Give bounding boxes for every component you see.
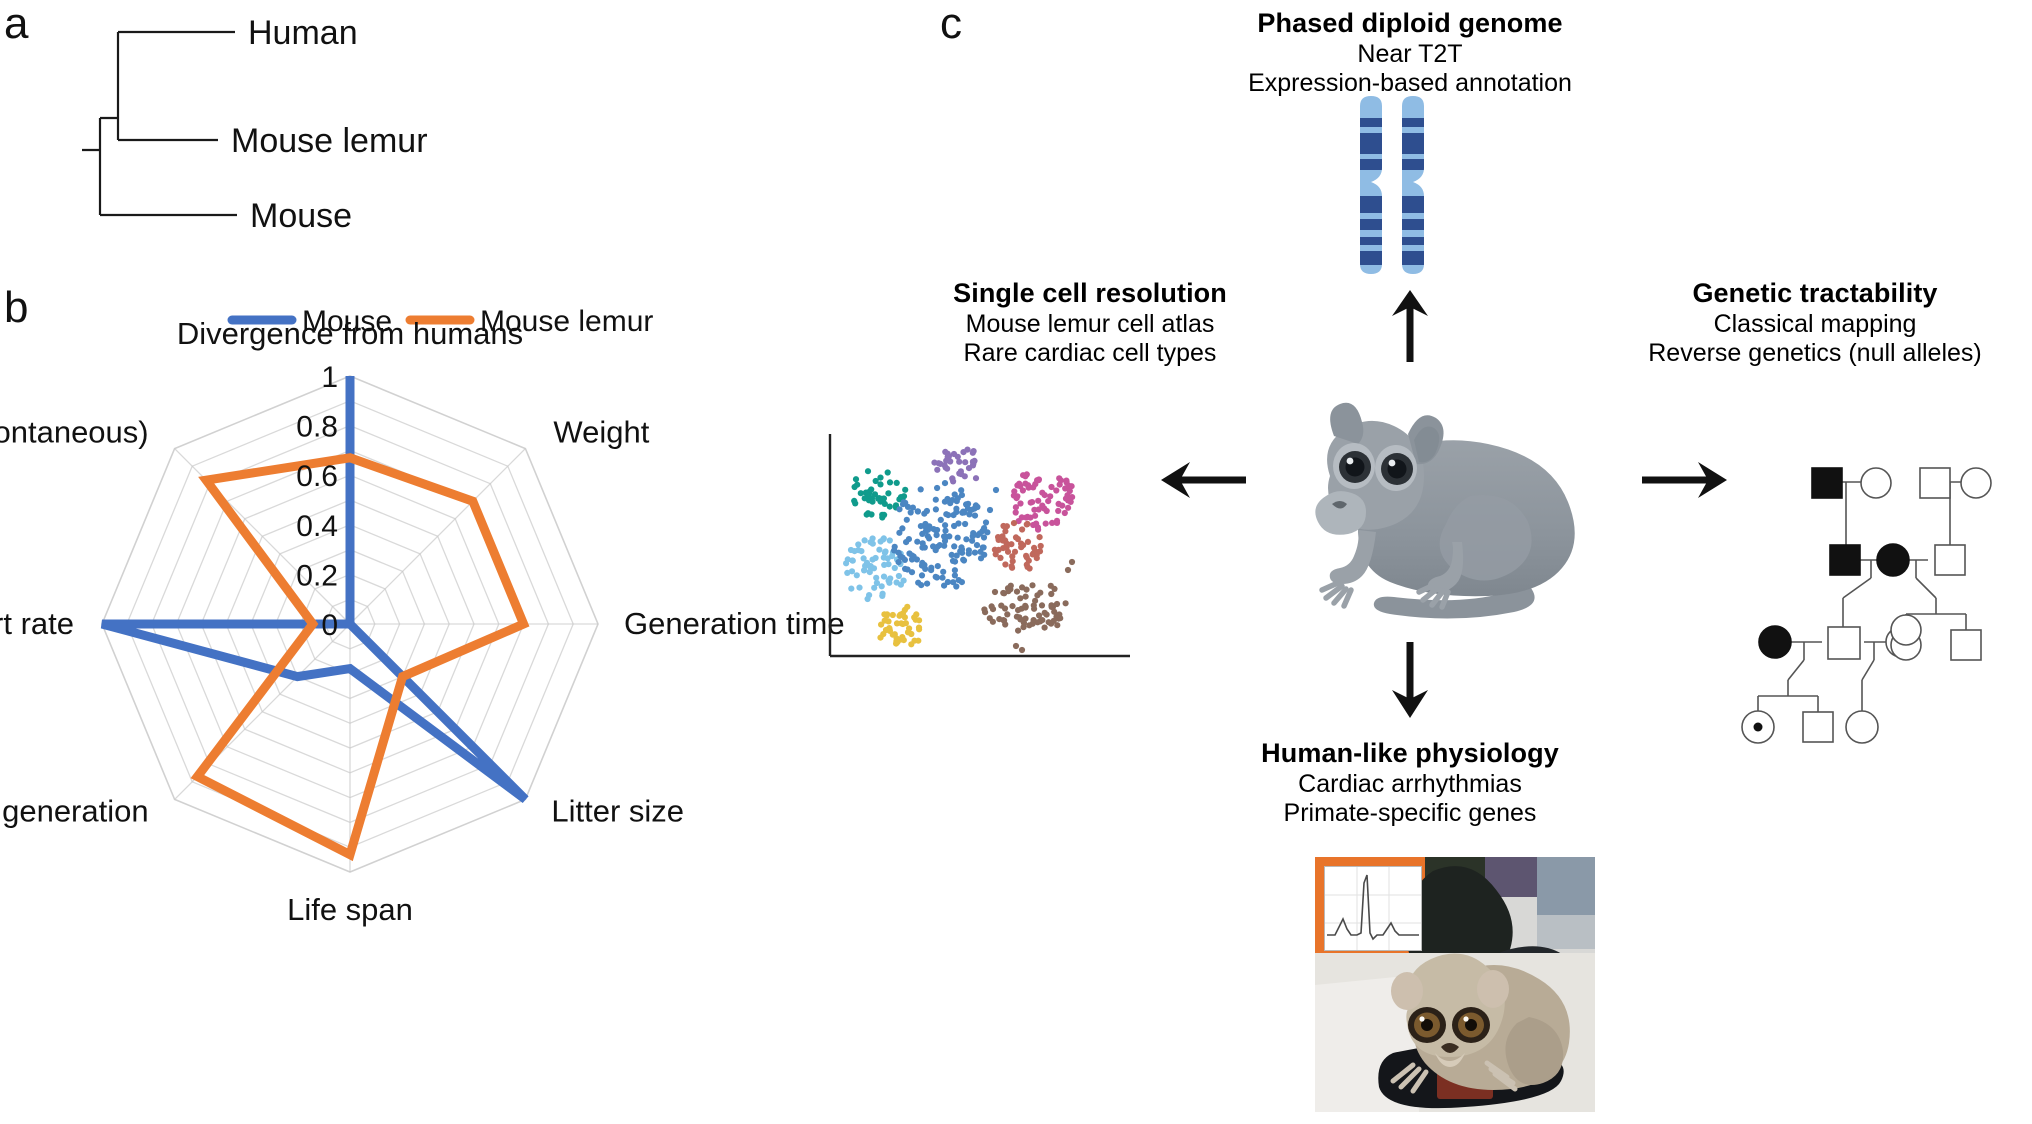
umap-point	[1069, 494, 1075, 500]
pedigree-affected-male	[1830, 545, 1860, 575]
bottom-title: Human-like physiology	[1070, 738, 1750, 770]
pedigree-female	[1846, 711, 1878, 743]
umap-point	[1028, 500, 1034, 506]
umap-point	[1005, 588, 1011, 594]
pedigree-male	[1935, 545, 1965, 575]
umap-point	[1033, 521, 1039, 527]
umap-point	[990, 619, 996, 625]
umap-point	[1017, 595, 1023, 601]
umap-point	[981, 525, 987, 531]
umap-point	[1063, 600, 1069, 606]
umap-point	[1037, 534, 1043, 540]
umap-point	[887, 479, 893, 485]
umap-point	[873, 555, 879, 561]
umap-point	[926, 523, 932, 529]
panel-c-letter: c	[940, 2, 962, 46]
umap-point	[1024, 564, 1030, 570]
umap-point	[959, 579, 965, 585]
top-title: Phased diploid genome	[1090, 8, 1730, 40]
radar-axis-label-weight: Weight	[553, 415, 649, 450]
umap-point	[862, 537, 868, 543]
radar-tick-label: 0.8	[296, 411, 338, 444]
umap-point	[911, 614, 917, 620]
umap-point	[962, 459, 968, 465]
umap-point	[1023, 604, 1029, 610]
umap-point	[920, 540, 926, 546]
umap-point	[1012, 549, 1018, 555]
umap-point	[1031, 602, 1037, 608]
umap-point	[1002, 621, 1008, 627]
pedigree-affected-male	[1812, 468, 1842, 498]
left-line-1: Mouse lemur cell atlas	[810, 310, 1370, 340]
umap-point	[916, 625, 922, 631]
umap-point	[902, 487, 908, 493]
radar-axis-label-life-span: Life span	[287, 892, 413, 927]
umap-point	[854, 572, 860, 578]
umap-point	[889, 553, 895, 559]
umap-point	[1039, 602, 1045, 608]
umap-point	[1011, 493, 1017, 499]
radar-axis-label-cost-per-generation: Cost per generation	[0, 793, 149, 828]
umap-point	[950, 512, 956, 518]
pedigree-carrier-dot	[1754, 723, 1763, 732]
umap-point	[1014, 589, 1020, 595]
umap-point	[936, 460, 942, 466]
umap-point	[949, 552, 955, 558]
right-text-block: Genetic tractability Classical mapping R…	[1580, 278, 2032, 369]
umap-point	[899, 634, 905, 640]
umap-point	[972, 550, 978, 556]
umap-point	[1038, 543, 1044, 549]
umap-point	[877, 481, 883, 487]
umap-point	[1062, 510, 1068, 516]
umap-point	[942, 480, 948, 486]
umap-point	[987, 507, 993, 513]
umap-point	[933, 497, 939, 503]
umap-point	[868, 511, 874, 517]
top-line-2: Expression-based annotation	[1090, 69, 1730, 99]
umap-point	[1013, 643, 1019, 649]
umap-point	[992, 589, 998, 595]
umap-point	[1016, 481, 1022, 487]
umap-point	[861, 555, 867, 561]
arrow-down-icon	[1380, 640, 1440, 720]
umap-point	[1013, 509, 1019, 515]
umap-point	[970, 450, 976, 456]
umap-point	[1056, 611, 1062, 617]
umap-point	[1009, 565, 1015, 571]
umap-point	[982, 609, 988, 615]
umap-point	[955, 520, 961, 526]
umap-point	[951, 543, 957, 549]
umap-point	[919, 563, 925, 569]
radar-tick-label: 0.6	[296, 460, 338, 493]
umap-point	[1004, 523, 1010, 529]
umap-point	[856, 585, 862, 591]
umap-point	[966, 547, 972, 553]
umap-point	[852, 500, 858, 506]
umap-point	[862, 495, 868, 501]
umap-point	[965, 501, 971, 507]
umap-point	[1022, 616, 1028, 622]
radar-axis-label-cvd-spontaneous: CVD (spontaneous)	[0, 415, 149, 450]
pedigree-affected-female	[1877, 544, 1909, 576]
umap-point	[1059, 503, 1065, 509]
umap-point	[955, 535, 961, 541]
tree-tip-label-mouse: Mouse	[250, 197, 352, 235]
radar-plot: 00.20.40.60.81 Divergence from humansWei…	[0, 324, 800, 1124]
umap-point	[1065, 567, 1071, 573]
umap-point	[914, 556, 920, 562]
umap-point	[1046, 619, 1052, 625]
panel-b-radar-chart: b Mouse Mouse lemur 00.20.40.60.81 Diver…	[0, 300, 800, 1124]
arrow-left-icon	[1158, 452, 1248, 508]
umap-point	[886, 580, 892, 586]
umap-point	[919, 572, 925, 578]
arrow-up-icon	[1380, 288, 1440, 364]
radar-tick-labels: 00.20.40.60.81	[296, 361, 338, 642]
phylogenetic-tree-svg: Human Mouse lemur Mouse	[0, 0, 640, 280]
umap-point	[881, 512, 887, 518]
umap-point	[1022, 473, 1028, 479]
umap-point	[894, 480, 900, 486]
umap-point	[942, 522, 948, 528]
umap-point	[1019, 526, 1025, 532]
umap-point	[1069, 483, 1075, 489]
umap-point	[887, 537, 893, 543]
umap-point	[918, 582, 924, 588]
umap-point	[1054, 601, 1060, 607]
umap-point	[876, 547, 882, 553]
umap-point	[945, 579, 951, 585]
umap-point	[959, 510, 965, 516]
umap-point	[1019, 647, 1025, 653]
pedigree-chart-icon	[1670, 468, 1982, 768]
pedigree-male	[1803, 712, 1833, 742]
chromosome-pair-icon	[1340, 96, 1480, 276]
umap-point	[894, 579, 900, 585]
umap-point	[990, 606, 996, 612]
umap-point	[1023, 553, 1029, 559]
umap-point	[896, 573, 902, 579]
umap-point	[896, 506, 902, 512]
pedigree-male	[1920, 468, 1950, 498]
umap-point	[973, 475, 979, 481]
umap-point	[940, 569, 946, 575]
umap-point	[900, 555, 906, 561]
umap-point	[853, 476, 859, 482]
radar-axis-label-generation-time: Generation time	[624, 606, 845, 641]
photo-lemur-ear-right	[1477, 970, 1509, 1008]
umap-scatter-icon	[820, 428, 1140, 668]
umap-point	[890, 612, 896, 618]
umap-point	[942, 538, 948, 544]
umap-point	[882, 618, 888, 624]
pedigree-female	[1861, 468, 1891, 498]
panel-a-phylogenetic-tree: a Human Mouse lemur Mouse	[0, 0, 640, 280]
umap-point	[1002, 561, 1008, 567]
umap-point	[952, 572, 958, 578]
umap-point	[905, 504, 911, 510]
umap-point	[1048, 602, 1054, 608]
right-line-1: Classical mapping	[1580, 310, 2032, 340]
umap-point	[969, 538, 975, 544]
umap-point	[934, 467, 940, 473]
umap-point	[892, 565, 898, 571]
umap-point	[1054, 520, 1060, 526]
umap-point	[1019, 514, 1025, 520]
tree-tip-label-mouse-lemur: Mouse lemur	[231, 122, 428, 160]
top-line-1: Near T2T	[1090, 40, 1730, 70]
umap-point	[1042, 610, 1048, 616]
umap-point	[1031, 507, 1037, 513]
umap-point	[1029, 582, 1035, 588]
radar-axis-label-litter-size: Litter size	[551, 793, 684, 828]
pedigree-female	[1961, 468, 1991, 498]
umap-point	[962, 473, 968, 479]
umap-point	[1025, 482, 1031, 488]
umap-point	[1065, 505, 1071, 511]
umap-point	[1019, 584, 1025, 590]
umap-point	[1004, 611, 1010, 617]
umap-point	[934, 527, 940, 533]
right-line-2: Reverse genetics (null alleles)	[1580, 339, 2032, 369]
umap-point	[958, 544, 964, 550]
umap-point	[933, 506, 939, 512]
umap-point	[880, 631, 886, 637]
umap-point	[879, 496, 885, 502]
umap-point	[915, 508, 921, 514]
umap-point	[1063, 496, 1069, 502]
panel-a-letter: a	[4, 2, 28, 46]
umap-point	[1026, 622, 1032, 628]
umap-point	[926, 535, 932, 541]
umap-point	[951, 451, 957, 457]
panel-c-schematic: c Phased diploid genome Near T2T Express…	[940, 0, 2032, 1124]
umap-point	[974, 504, 980, 510]
umap-point	[935, 563, 941, 569]
left-text-block: Single cell resolution Mouse lemur cell …	[810, 278, 1370, 369]
umap-point	[942, 528, 948, 534]
umap-point	[905, 629, 911, 635]
umap-point	[945, 455, 951, 461]
umap-point	[901, 493, 907, 499]
umap-point	[970, 462, 976, 468]
bottom-line-2: Primate-specific genes	[1070, 799, 1750, 829]
umap-point	[855, 541, 861, 547]
left-title: Single cell resolution	[810, 278, 1370, 310]
lemur-front-limb	[1330, 530, 1376, 584]
umap-point	[909, 569, 915, 575]
tree-tip-label-human: Human	[248, 14, 358, 52]
lemur-muzzle	[1315, 491, 1366, 535]
umap-point	[962, 521, 968, 527]
umap-points	[843, 447, 1075, 654]
umap-point	[1009, 603, 1015, 609]
umap-point	[1055, 508, 1061, 514]
umap-point	[934, 544, 940, 550]
umap-point	[969, 507, 975, 513]
umap-point	[1003, 540, 1009, 546]
umap-point	[977, 530, 983, 536]
umap-point	[974, 542, 980, 548]
photo-lemur-ear-left	[1391, 972, 1423, 1010]
umap-point	[911, 638, 917, 644]
umap-point	[938, 517, 944, 523]
umap-point	[1037, 590, 1043, 596]
umap-point	[956, 459, 962, 465]
umap-point	[1051, 586, 1057, 592]
umap-point	[1016, 614, 1022, 620]
umap-point	[892, 544, 898, 550]
umap-point	[983, 519, 989, 525]
bottom-text-block: Human-like physiology Cardiac arrhythmia…	[1070, 738, 1750, 829]
umap-point	[848, 547, 854, 553]
umap-point	[1063, 478, 1069, 484]
umap-point	[882, 548, 888, 554]
umap-point	[1042, 625, 1048, 631]
umap-point	[1043, 521, 1049, 527]
umap-point	[866, 489, 872, 495]
umap-point	[1010, 558, 1016, 564]
umap-point	[848, 586, 854, 592]
umap-point	[879, 593, 885, 599]
umap-point	[899, 525, 905, 531]
umap-point	[1035, 527, 1041, 533]
umap-point	[939, 575, 945, 581]
left-line-2: Rare cardiac cell types	[810, 339, 1370, 369]
bottom-line-1: Cardiac arrhythmias	[1070, 770, 1750, 800]
mouse-lemur-illustration	[1256, 392, 1656, 622]
top-text-block: Phased diploid genome Near T2T Expressio…	[1090, 8, 1730, 99]
umap-point	[959, 492, 965, 498]
umap-point	[844, 570, 850, 576]
umap-point	[1045, 498, 1051, 504]
umap-point	[904, 517, 910, 523]
umap-point	[992, 547, 998, 553]
umap-point	[858, 548, 864, 554]
radar-axis-label-divergence-from-humans: Divergence from humans	[177, 316, 523, 351]
umap-point	[977, 549, 983, 555]
umap-point	[894, 639, 900, 645]
umap-point	[952, 559, 958, 565]
umap-point	[868, 539, 874, 545]
umap-point	[1025, 539, 1031, 545]
radar-tick-label: 0.2	[296, 559, 338, 592]
umap-point	[963, 536, 969, 542]
umap-point	[1036, 612, 1042, 618]
umap-point	[993, 487, 999, 493]
umap-point	[881, 611, 887, 617]
umap-point	[918, 523, 924, 529]
umap-point	[1035, 498, 1041, 504]
pedigree-female	[1891, 615, 1921, 645]
umap-point	[942, 449, 948, 455]
umap-point	[854, 482, 860, 488]
radar-axis-label-heart-rate: Heart rate	[0, 606, 74, 641]
pedigree-male	[1828, 627, 1860, 659]
umap-point	[953, 506, 959, 512]
umap-point	[885, 561, 891, 567]
umap-point	[1024, 521, 1030, 527]
umap-point	[972, 513, 978, 519]
umap-point	[904, 604, 910, 610]
umap-point	[918, 486, 924, 492]
umap-point	[943, 511, 949, 517]
umap-point	[861, 567, 867, 573]
umap-point	[1044, 508, 1050, 514]
umap-point	[1069, 559, 1075, 565]
umap-point	[998, 603, 1004, 609]
pedigree-affected-female	[1759, 626, 1791, 658]
umap-point	[1057, 482, 1063, 488]
umap-point	[1015, 628, 1021, 634]
umap-point	[1034, 555, 1040, 561]
umap-point	[885, 469, 891, 475]
umap-point	[1013, 534, 1019, 540]
pedigree-male	[1951, 630, 1981, 660]
umap-point	[900, 610, 906, 616]
umap-point	[885, 490, 891, 496]
umap-point	[1032, 513, 1038, 519]
umap-point	[996, 616, 1002, 622]
umap-point	[880, 536, 886, 542]
radar-tick-label: 0.4	[296, 510, 338, 543]
umap-point	[924, 581, 930, 587]
umap-point	[944, 496, 950, 502]
umap-point	[874, 580, 880, 586]
umap-point	[1053, 487, 1059, 493]
umap-point	[1015, 607, 1021, 613]
umap-point	[865, 468, 871, 474]
lemur-ecg-photo	[1315, 857, 1595, 1112]
umap-point	[872, 491, 878, 497]
lemur-front-hand	[1322, 582, 1351, 606]
umap-point	[1032, 481, 1038, 487]
umap-point	[849, 557, 855, 563]
ecg-trace-inset	[1324, 866, 1422, 951]
umap-point	[869, 499, 875, 505]
umap-point	[950, 478, 956, 484]
umap-point	[866, 592, 872, 598]
umap-point	[903, 539, 909, 545]
umap-point	[964, 447, 970, 453]
umap-point	[901, 578, 907, 584]
umap-point	[873, 575, 879, 581]
umap-point	[914, 539, 920, 545]
umap-point	[1042, 492, 1048, 498]
umap-point	[933, 574, 939, 580]
umap-point	[894, 620, 900, 626]
umap-point	[960, 557, 966, 563]
umap-point	[867, 569, 873, 575]
umap-point	[928, 565, 934, 571]
umap-point	[1048, 591, 1054, 597]
umap-point	[1011, 520, 1017, 526]
umap-point	[1013, 504, 1019, 510]
umap-point	[999, 534, 1005, 540]
radar-tick-label: 0	[321, 609, 338, 642]
umap-point	[956, 470, 962, 476]
umap-point	[1023, 594, 1029, 600]
umap-point	[902, 566, 908, 572]
umap-point	[903, 620, 909, 626]
umap-point	[919, 531, 925, 537]
umap-point	[934, 485, 940, 491]
umap-point	[921, 511, 927, 517]
radar-tick-label: 1	[321, 361, 338, 394]
right-title: Genetic tractability	[1580, 278, 2032, 310]
